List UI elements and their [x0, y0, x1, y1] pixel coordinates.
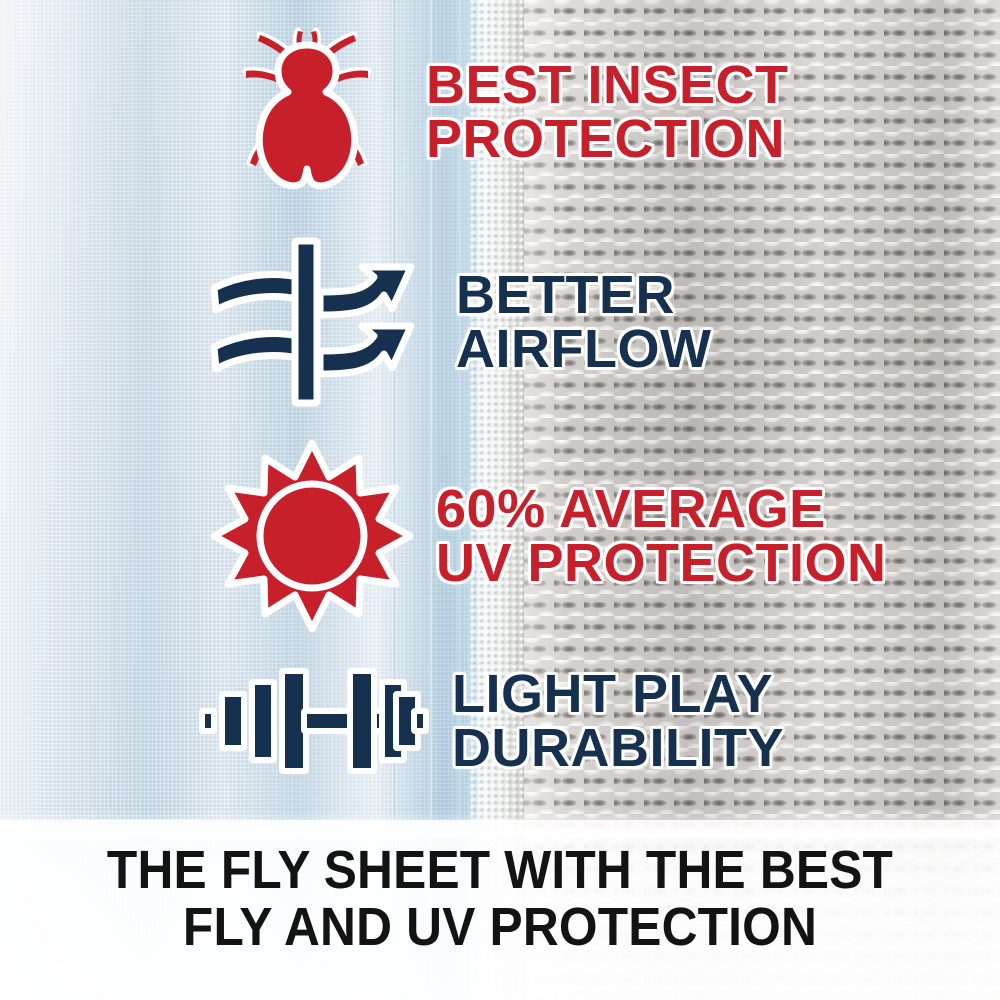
feature-label-airflow: BETTER AIRFLOW [456, 268, 711, 376]
fly-icon [232, 23, 382, 201]
feature-label-insect-protection: BEST INSECT PROTECTION [426, 58, 789, 166]
product-tagline: THE FLY SHEET WITH THE BEST FLY AND UV P… [40, 842, 960, 956]
infographic-canvas: BEST INSECT PROTECTION BETTER AIRFLOW [0, 0, 1000, 1000]
sun-icon [212, 441, 412, 631]
feature-row-durability: LIGHT PLAY DURABILITY [200, 656, 960, 786]
feature-label-durability: LIGHT PLAY DURABILITY [452, 667, 784, 775]
feature-row-insect-protection: BEST INSECT PROTECTION [232, 22, 992, 202]
feature-row-airflow: BETTER AIRFLOW [206, 242, 966, 402]
feature-row-uv-protection: 60% AVERAGE UV PROTECTION [212, 438, 972, 634]
feature-label-uv-protection: 60% AVERAGE UV PROTECTION [436, 482, 887, 590]
dumbbell-icon [200, 665, 426, 777]
airflow-icon [206, 247, 422, 397]
